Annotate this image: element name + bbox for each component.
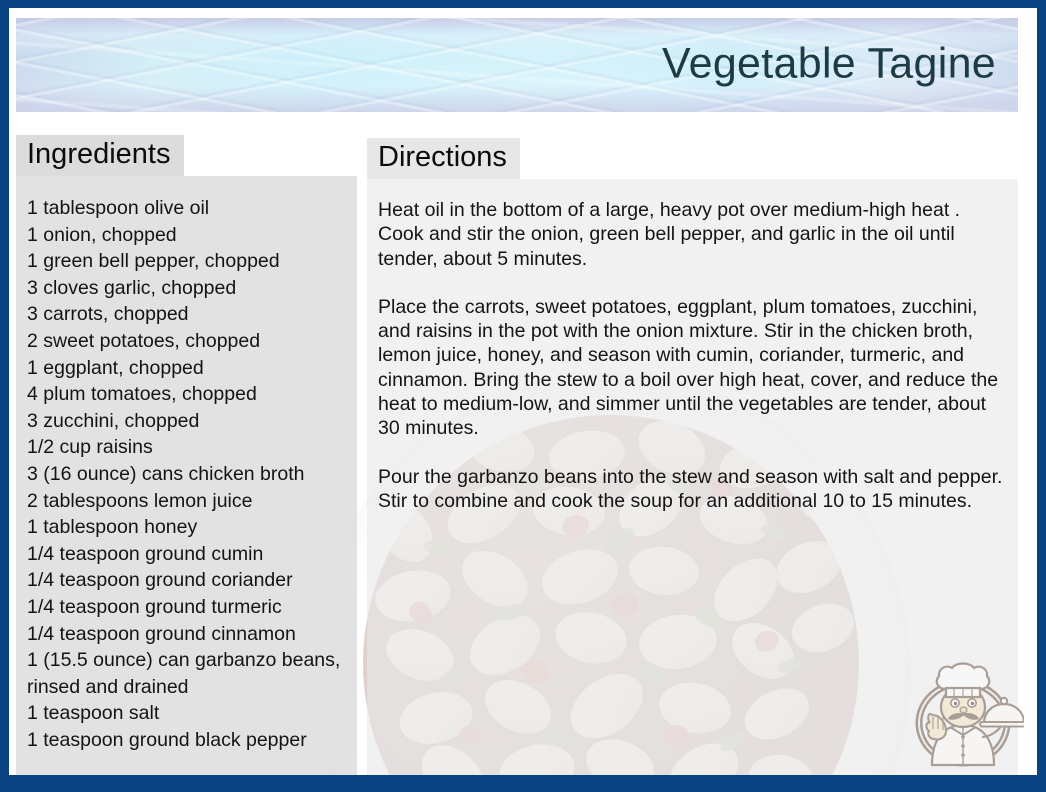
ingredient-item: 3 carrots, chopped: [27, 301, 351, 328]
ingredients-list: 1 tablespoon olive oil1 onion, chopped1 …: [27, 195, 351, 753]
recipe-title: Vegetable Tagine: [662, 40, 996, 89]
recipe-card: Vegetable Tagine: [0, 0, 1046, 792]
ingredient-item: 1/4 teaspoon ground cumin: [27, 541, 351, 568]
ingredients-heading: Ingredients: [16, 135, 184, 176]
directions-panel: Heat oil in the bottom of a large, heavy…: [367, 179, 1018, 775]
ingredient-item: 2 sweet potatoes, chopped: [27, 328, 351, 355]
direction-step: Place the carrots, sweet potatoes, eggpl…: [378, 295, 1004, 441]
direction-step: Heat oil in the bottom of a large, heavy…: [378, 198, 1004, 271]
ingredient-item: 1 onion, chopped: [27, 222, 351, 249]
ingredient-item: 1 green bell pepper, chopped: [27, 248, 351, 275]
ingredient-item: 1 teaspoon ground black pepper: [27, 727, 351, 754]
ingredient-item: 1/4 teaspoon ground cinnamon: [27, 621, 351, 648]
header-banner: Vegetable Tagine: [16, 18, 1018, 112]
ingredient-item: 1/4 teaspoon ground coriander: [27, 567, 351, 594]
directions-text: Heat oil in the bottom of a large, heavy…: [378, 198, 1004, 513]
recipe-page: Vegetable Tagine: [9, 8, 1037, 775]
ingredient-item: 1 (15.5 ounce) can garbanzo beans, rinse…: [27, 647, 351, 700]
ingredient-item: 2 tablespoons lemon juice: [27, 488, 351, 515]
ingredient-item: 1/4 teaspoon ground turmeric: [27, 594, 351, 621]
ingredient-item: 1 teaspoon salt: [27, 700, 351, 727]
ingredient-item: 3 cloves garlic, chopped: [27, 275, 351, 302]
ingredients-panel: 1 tablespoon olive oil1 onion, chopped1 …: [16, 176, 357, 775]
ingredient-item: 3 zucchini, chopped: [27, 408, 351, 435]
ingredient-item: 1/2 cup raisins: [27, 434, 351, 461]
ingredient-item: 3 (16 ounce) cans chicken broth: [27, 461, 351, 488]
ingredient-item: 1 tablespoon olive oil: [27, 195, 351, 222]
directions-heading: Directions: [367, 138, 520, 179]
direction-step: Pour the garbanzo beans into the stew an…: [378, 465, 1004, 514]
ingredient-item: 4 plum tomatoes, chopped: [27, 381, 351, 408]
ingredient-item: 1 tablespoon honey: [27, 514, 351, 541]
ingredient-item: 1 eggplant, chopped: [27, 355, 351, 382]
